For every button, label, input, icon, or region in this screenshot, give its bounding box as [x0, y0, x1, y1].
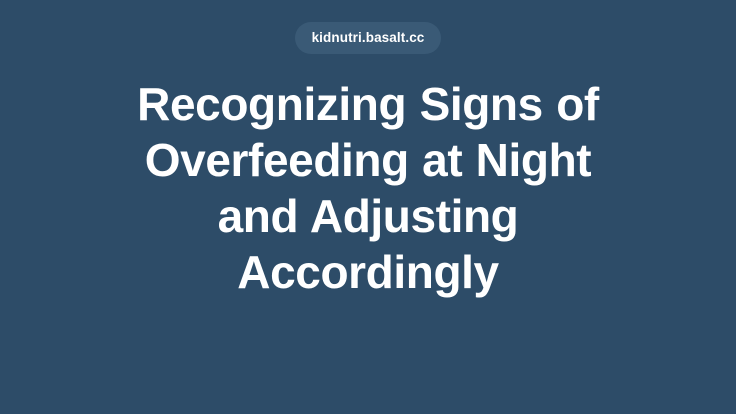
page-title: Recognizing Signs of Overfeeding at Nigh…: [58, 76, 678, 300]
social-share-card: kidnutri.basalt.cc Recognizing Signs of …: [0, 0, 736, 414]
headline-line-4: Accordingly: [58, 244, 678, 300]
headline-line-2: Overfeeding at Night: [58, 132, 678, 188]
domain-badge: kidnutri.basalt.cc: [295, 22, 442, 54]
badge-row: kidnutri.basalt.cc: [0, 22, 736, 54]
headline-container: Recognizing Signs of Overfeeding at Nigh…: [0, 76, 736, 414]
headline-line-1: Recognizing Signs of: [58, 76, 678, 132]
headline-line-3: and Adjusting: [58, 188, 678, 244]
